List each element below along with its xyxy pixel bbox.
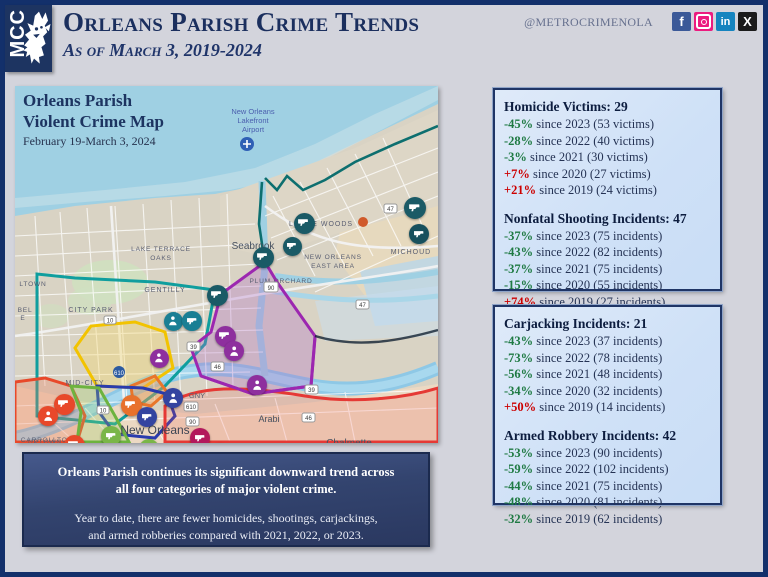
stat-row: -28% since 2022 (40 victims) xyxy=(504,133,711,150)
summary-caption: Orleans Parish continues its significant… xyxy=(22,452,430,547)
svg-text:MICHOUD: MICHOUD xyxy=(391,249,431,256)
stat-row: +21% since 2019 (24 victims) xyxy=(504,182,711,199)
svg-text:90: 90 xyxy=(268,286,275,292)
gun-marker[interactable] xyxy=(294,213,315,234)
gun-marker[interactable] xyxy=(404,197,426,219)
stat-heading-label: Armed Robbery Incidents xyxy=(504,428,655,443)
svg-text:Arabi: Arabi xyxy=(258,414,279,424)
header-bar: MCC Orleans Parish Crime Trends As of Ma… xyxy=(5,5,763,72)
stat-row: -56% since 2021 (48 incidents) xyxy=(504,366,711,383)
stat-percent: -3% xyxy=(504,150,527,164)
stats-panel-bottom: Carjacking Incidents: 21-43% since 2023 … xyxy=(493,305,722,505)
stat-row-text: since 2019 (62 incidents) xyxy=(533,512,662,526)
person-marker[interactable] xyxy=(150,349,169,368)
stat-row: -37% since 2023 (75 incidents) xyxy=(504,228,711,245)
map-title-block: Orleans Parish Violent Crime Map Februar… xyxy=(23,90,164,150)
svg-text:E: E xyxy=(20,315,25,322)
stat-percent: -43% xyxy=(504,245,533,259)
svg-text:46: 46 xyxy=(305,416,312,422)
stat-row-text: since 2022 (78 incidents) xyxy=(533,351,662,365)
svg-text:GNY: GNY xyxy=(189,391,205,400)
svg-text:610: 610 xyxy=(114,371,125,377)
stat-row: -43% since 2023 (37 incidents) xyxy=(504,333,711,350)
stat-row-text: since 2021 (48 incidents) xyxy=(533,367,662,381)
stat-row: -37% since 2021 (75 incidents) xyxy=(504,261,711,278)
stat-row-text: since 2022 (40 victims) xyxy=(533,134,654,148)
stat-heading-count: : 29 xyxy=(606,99,627,114)
stat-percent: -32% xyxy=(504,512,533,526)
stat-row-text: since 2021 (30 victims) xyxy=(527,150,648,164)
svg-text:90: 90 xyxy=(189,420,196,426)
svg-text:Lakefront: Lakefront xyxy=(237,116,269,125)
x-twitter-icon[interactable]: X xyxy=(738,12,757,31)
gun-marker[interactable] xyxy=(101,426,121,443)
caption-line2: all four categories of major violent cri… xyxy=(40,481,412,498)
stat-heading: Nonfatal Shooting Incidents: 47 xyxy=(504,209,711,228)
stat-row-text: since 2023 (53 victims) xyxy=(533,117,654,131)
stat-percent: -28% xyxy=(504,134,533,148)
gun-marker[interactable] xyxy=(207,285,228,306)
svg-text:MID-CITY: MID-CITY xyxy=(65,380,104,387)
svg-text:39: 39 xyxy=(190,345,197,351)
stat-row: +50% since 2019 (14 incidents) xyxy=(504,399,711,416)
stat-percent: -15% xyxy=(504,278,533,292)
person-marker[interactable] xyxy=(163,388,183,408)
svg-text:Chalmette: Chalmette xyxy=(326,438,372,443)
map-title-line2: Violent Crime Map xyxy=(23,111,164,132)
page-subtitle: As of March 3, 2019-2024 xyxy=(63,38,419,62)
map-date-range: February 19-March 3, 2024 xyxy=(23,133,164,150)
mcc-logo: MCC xyxy=(5,5,52,72)
stat-percent: -48% xyxy=(504,495,533,509)
stat-heading: Armed Robbery Incidents: 42 xyxy=(504,426,711,445)
svg-text:39: 39 xyxy=(308,388,315,394)
gun-marker[interactable] xyxy=(182,311,202,331)
gun-marker[interactable] xyxy=(283,237,302,256)
stat-group-armed-robbery-incidents: Armed Robbery Incidents: 42-53% since 20… xyxy=(504,426,711,528)
svg-text:610: 610 xyxy=(186,405,197,411)
stat-percent: -44% xyxy=(504,479,533,493)
svg-text:LTOWN: LTOWN xyxy=(19,281,46,288)
stat-row: -43% since 2022 (82 incidents) xyxy=(504,244,711,261)
page-title: Orleans Parish Crime Trends xyxy=(63,7,419,37)
stat-row: +7% since 2020 (27 victims) xyxy=(504,166,711,183)
caption-line1: Orleans Parish continues its significant… xyxy=(40,464,412,481)
caption-headline: Orleans Parish continues its significant… xyxy=(40,464,412,498)
svg-text:10: 10 xyxy=(100,409,107,415)
svg-text:GENTILLY: GENTILLY xyxy=(144,287,185,294)
title-block: Orleans Parish Crime Trends As of March … xyxy=(63,7,419,62)
stat-row-text: since 2023 (37 incidents) xyxy=(533,334,662,348)
caption-line4: and armed robberies compared with 2021, … xyxy=(40,527,412,544)
stat-heading-label: Nonfatal Shooting Incidents xyxy=(504,211,665,226)
stat-row-text: since 2019 (14 incidents) xyxy=(536,400,665,414)
stat-percent: -43% xyxy=(504,334,533,348)
stat-row: -34% since 2020 (32 incidents) xyxy=(504,383,711,400)
stat-row: -44% since 2021 (75 incidents) xyxy=(504,478,711,495)
person-marker[interactable] xyxy=(164,312,183,331)
gun-marker[interactable] xyxy=(190,428,210,443)
stat-row-text: since 2020 (32 incidents) xyxy=(533,384,662,398)
svg-text:BEL: BEL xyxy=(18,307,33,314)
stat-heading: Carjacking Incidents: 21 xyxy=(504,314,711,333)
social-links: f in X xyxy=(672,12,757,31)
stat-percent: +21% xyxy=(504,183,536,197)
stats-panel-top: Homicide Victims: 29-45% since 2023 (53 … xyxy=(493,88,722,291)
stat-percent: -37% xyxy=(504,229,533,243)
svg-text:CITY PARK: CITY PARK xyxy=(68,307,113,314)
stat-row-text: since 2020 (81 incidents) xyxy=(533,495,662,509)
stat-row: -32% since 2019 (62 incidents) xyxy=(504,511,711,528)
stat-row-text: since 2022 (82 incidents) xyxy=(533,245,662,259)
person-marker[interactable] xyxy=(247,375,267,395)
caption-body: Year to date, there are fewer homicides,… xyxy=(40,510,412,544)
instagram-icon[interactable] xyxy=(694,12,713,31)
stat-row-text: since 2021 (75 incidents) xyxy=(533,479,662,493)
svg-text:46: 46 xyxy=(214,365,221,371)
stat-row: -73% since 2022 (78 incidents) xyxy=(504,350,711,367)
svg-text:LAKE TERRACE: LAKE TERRACE xyxy=(131,246,191,253)
caption-line3: Year to date, there are fewer homicides,… xyxy=(40,510,412,527)
stat-row-text: since 2019 (24 victims) xyxy=(536,183,657,197)
stat-row-text: since 2022 (102 incidents) xyxy=(533,462,668,476)
stat-row: -3% since 2021 (30 victims) xyxy=(504,149,711,166)
svg-text:PLUM ORCHARD: PLUM ORCHARD xyxy=(249,278,312,285)
svg-text:47: 47 xyxy=(359,303,366,309)
stat-row-text: since 2020 (55 incidents) xyxy=(533,278,662,292)
svg-text:OAKS: OAKS xyxy=(150,255,172,262)
stat-row-text: since 2023 (75 incidents) xyxy=(533,229,662,243)
stat-percent: -45% xyxy=(504,117,533,131)
stat-heading-count: : 42 xyxy=(655,428,676,443)
stat-row: -48% since 2020 (81 incidents) xyxy=(504,494,711,511)
svg-text:New Orleans: New Orleans xyxy=(231,107,275,116)
svg-text:Airport: Airport xyxy=(242,125,265,134)
stat-row-text: since 2023 (90 incidents) xyxy=(533,446,662,460)
facebook-icon[interactable]: f xyxy=(672,12,691,31)
stat-percent: -56% xyxy=(504,367,533,381)
gun-marker[interactable] xyxy=(253,247,274,268)
gun-marker[interactable] xyxy=(409,224,429,244)
stat-row: -59% since 2022 (102 incidents) xyxy=(504,461,711,478)
stat-percent: -59% xyxy=(504,462,533,476)
stat-heading-count: : 47 xyxy=(665,211,686,226)
stat-percent: -37% xyxy=(504,262,533,276)
map-title-line1: Orleans Parish xyxy=(23,90,164,111)
gun-marker[interactable] xyxy=(137,407,157,427)
stat-heading: Homicide Victims: 29 xyxy=(504,97,711,116)
svg-text:NEW ORLEANS: NEW ORLEANS xyxy=(304,254,362,261)
stat-percent: -34% xyxy=(504,384,533,398)
bulldog-mascot-icon xyxy=(20,7,52,69)
stat-percent: -73% xyxy=(504,351,533,365)
instagram-glyph xyxy=(696,14,711,29)
stat-percent: +7% xyxy=(504,167,530,181)
stat-row: -53% since 2023 (90 incidents) xyxy=(504,445,711,462)
svg-text:New Orleans: New Orleans xyxy=(120,423,189,437)
stat-row-text: since 2020 (27 victims) xyxy=(530,167,651,181)
stat-row: -15% since 2020 (55 incidents) xyxy=(504,277,711,294)
stat-percent: +50% xyxy=(504,400,536,414)
stat-row-text: since 2021 (75 incidents) xyxy=(533,262,662,276)
stat-heading-label: Carjacking Incidents xyxy=(504,316,626,331)
stat-heading-label: Homicide Victims xyxy=(504,99,606,114)
svg-text:10: 10 xyxy=(107,319,114,325)
stat-heading-count: : 21 xyxy=(626,316,647,331)
person-marker[interactable] xyxy=(38,406,58,426)
violent-crime-map[interactable]: New Orleans Lakefront Airport LITTLE WOO… xyxy=(15,86,438,443)
stat-group-carjacking-incidents: Carjacking Incidents: 21-43% since 2023 … xyxy=(504,314,711,416)
stat-group-nonfatal-shooting-incidents: Nonfatal Shooting Incidents: 47-37% sinc… xyxy=(504,209,711,311)
stat-row: -45% since 2023 (53 victims) xyxy=(504,116,711,133)
svg-text:47: 47 xyxy=(387,207,394,213)
linkedin-icon[interactable]: in xyxy=(716,12,735,31)
svg-text:EAST AREA: EAST AREA xyxy=(311,263,355,270)
social-handle: @METROCRIMENOLA xyxy=(524,15,653,30)
person-marker[interactable] xyxy=(224,341,244,361)
stat-group-homicide-victims: Homicide Victims: 29-45% since 2023 (53 … xyxy=(504,97,711,199)
stat-percent: -53% xyxy=(504,446,533,460)
